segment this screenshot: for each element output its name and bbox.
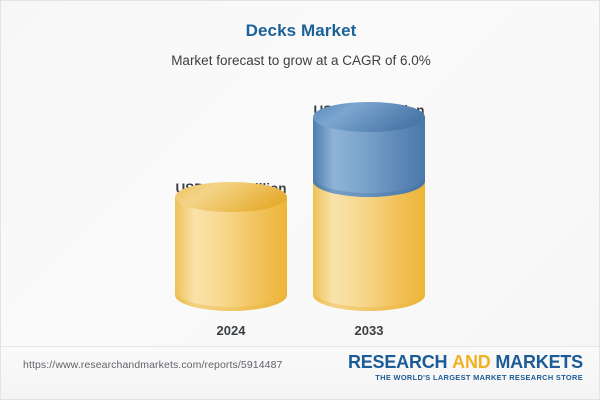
bar-category-label-2024: 2024 (217, 323, 246, 338)
chart-plot-area: USD 14.54 Billion (1, 1, 600, 346)
cylinder-2033 (309, 101, 429, 311)
logo-word-and: AND (452, 352, 490, 372)
logo-tagline: THE WORLD'S LARGEST MARKET RESEARCH STOR… (348, 373, 583, 383)
logo-word-markets: MARKETS (495, 352, 583, 372)
chart-card: Decks Market Market forecast to grow at … (0, 0, 600, 400)
research-and-markets-logo[interactable]: RESEARCH AND MARKETS THE WORLD'S LARGEST… (348, 351, 583, 383)
footer: https://www.researchandmarkets.com/repor… (1, 347, 600, 400)
bar-category-label-2033: 2033 (355, 323, 384, 338)
cylinder-2024 (171, 181, 291, 311)
bar-group-2024[interactable]: USD 14.54 Billion (171, 1, 291, 346)
report-url-link[interactable]: https://www.researchandmarkets.com/repor… (23, 359, 282, 371)
logo-word-research: RESEARCH (348, 352, 447, 372)
bar-group-2033[interactable]: USD 24.57 Billion (309, 1, 429, 346)
logo-wordmark: RESEARCH AND MARKETS (348, 351, 583, 373)
